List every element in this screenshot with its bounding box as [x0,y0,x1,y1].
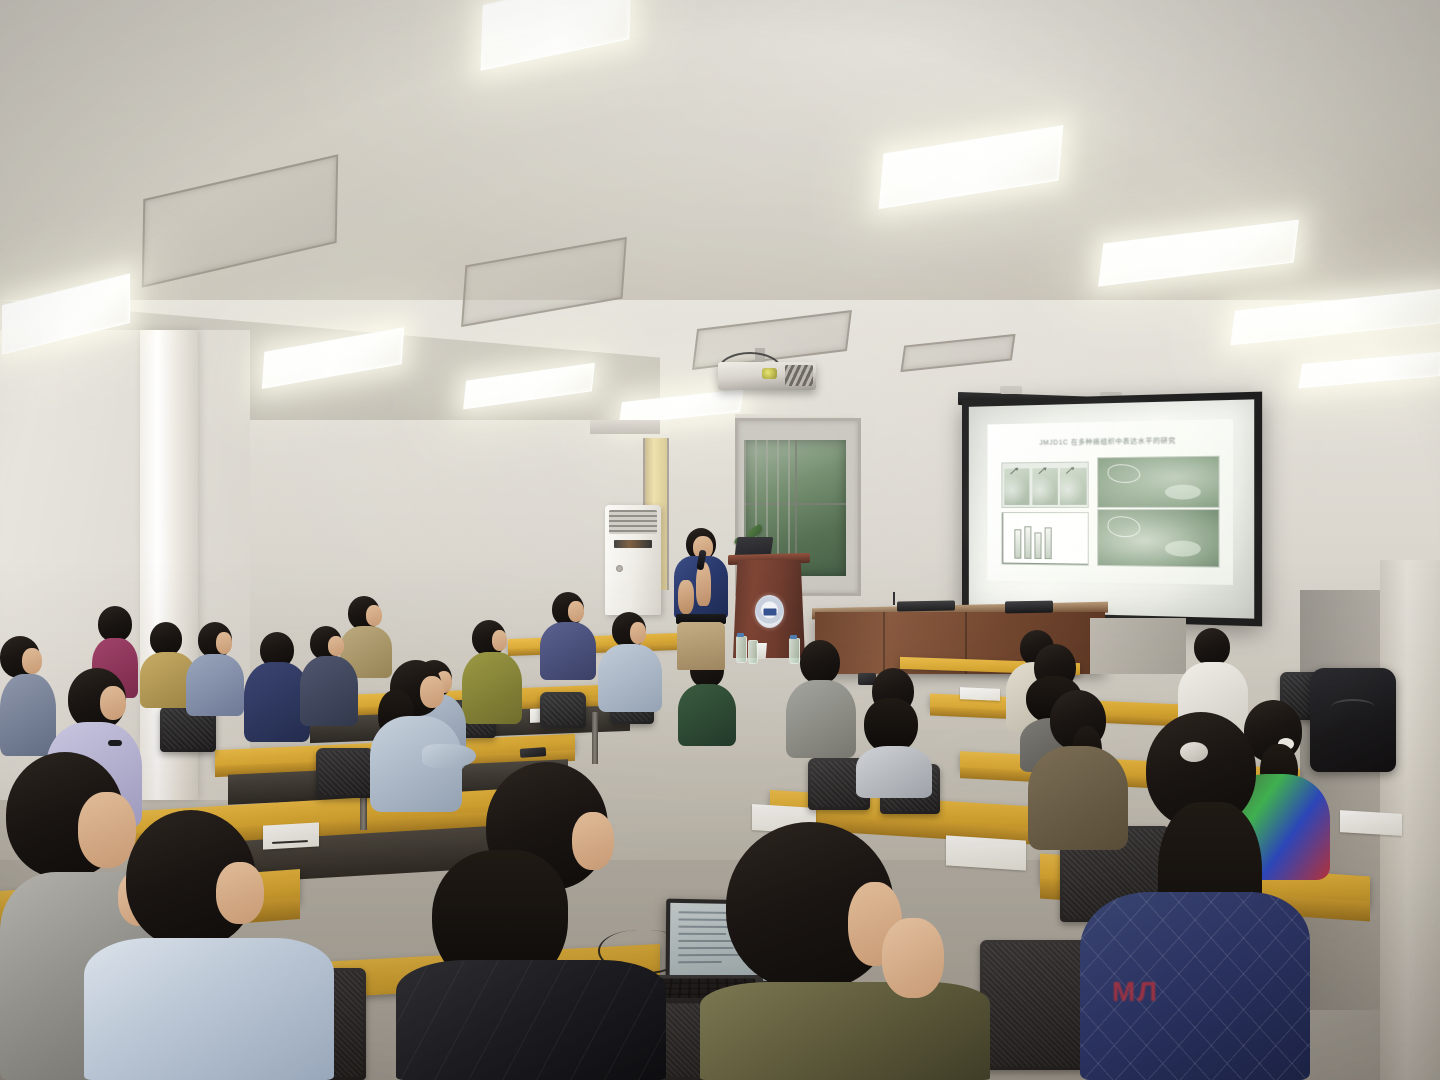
slide-panel-top-left [1001,461,1089,508]
ceiling-light-on [2,273,130,354]
histology-image [1098,510,1219,566]
attendee-front-quilted: MЛ [1080,712,1310,1080]
shirt [84,938,334,1080]
black-jacket [396,960,666,1080]
ceiling-light-on [1098,220,1299,287]
micrograph-tile [1032,468,1058,505]
torso [540,622,596,680]
microphone-stem [893,592,895,605]
head [1194,628,1230,666]
torso [598,644,662,712]
university-crest-icon [755,595,784,628]
ac-display [614,540,652,548]
attendee-mid-olive-sweater [462,620,522,724]
open-notebook[interactable] [1340,810,1402,836]
wristwatch [108,740,122,746]
chair[interactable] [316,748,374,798]
face [630,622,646,644]
ceiling-light-on [262,327,404,389]
table-skirt-seam [883,612,885,674]
paper-sheet[interactable] [960,687,1000,701]
conference-monitor[interactable] [1005,601,1053,614]
chart-bar [1034,532,1041,559]
chair-mesh [543,695,583,725]
ceiling-light-on [1230,289,1440,346]
projector [718,362,816,390]
micrograph-tile [1004,468,1029,505]
head [800,640,840,684]
ceiling-light-off [900,334,1015,372]
histology-image [1098,457,1219,507]
attendee-front-blue-shirt [84,810,334,1080]
face [328,636,344,656]
ceiling-light-on [879,125,1064,209]
projection-screen: JMJD1C 在多种癌组织中表达水平的研究 [962,392,1262,627]
slide-panel-bottom-right [1097,509,1220,567]
chart-bar [1044,528,1051,559]
ceiling-light-on [481,0,632,71]
ceiling-light-on [463,363,595,410]
slide-panel-bar-chart [1001,512,1089,565]
jacket-lettering: MЛ [1112,976,1200,1032]
presenter-trousers [677,622,725,670]
ceiling-light-on [1298,352,1440,389]
desk-leg [592,712,598,764]
hand [882,918,944,998]
attendee-front-olive [700,822,990,1080]
chart-y-axis [1002,513,1003,563]
conference-microphone[interactable] [897,600,955,611]
torso [186,654,244,716]
torso [786,680,856,758]
presenter-arm [678,580,694,614]
hair-clip [1180,742,1208,762]
presenter [672,528,734,668]
face [492,630,507,651]
torso [678,684,736,746]
attendee-mid-longhair [856,668,932,798]
water-bottle[interactable] [748,640,758,664]
projector-vent-icon [785,365,813,386]
face [100,686,126,720]
bottle-cap-icon [737,633,744,637]
air-conditioner[interactable] [605,505,661,615]
face [420,676,444,708]
head [98,606,132,642]
bottle-cap-icon [790,635,797,639]
torso [700,982,990,1080]
ceiling-light-off [461,237,627,327]
lecture-hall-photograph: JMJD1C 在多种癌组织中表达水平的研究 [0,0,1440,1080]
chart-bars [1014,521,1051,559]
face [366,605,382,626]
attendee-mid-grey-tshirt [786,640,856,758]
chart-bar [1024,527,1031,559]
chart-bar [1014,530,1021,559]
roller-blind-left [590,420,660,434]
face [22,648,42,674]
presentation-slide: JMJD1C 在多种癌组织中表达水平的研究 [988,420,1233,586]
smartphone[interactable] [520,747,547,758]
screen-mount-bracket [1000,386,1022,394]
screen-surface: JMJD1C 在多种癌组织中表达水平的研究 [969,399,1254,618]
ceiling-light-off [142,154,338,288]
micrograph-tile [1060,467,1086,505]
head [150,622,182,656]
chart-x-axis [1002,562,1088,564]
face [572,812,614,870]
face [568,601,584,622]
ac-power-button[interactable] [616,565,623,572]
quilted-jacket: MЛ [1080,892,1310,1080]
torso [462,652,522,724]
face [216,862,264,924]
side-cabinet [1090,618,1186,674]
attendee-back-grey-coat [300,626,358,726]
face [216,632,232,654]
attendee-back-navy-2 [540,592,596,680]
slide-title: JMJD1C 在多种癌组织中表达水平的研究 [1008,433,1209,447]
slide-panel-top-right [1097,456,1220,508]
attendee-front-black-jacket [396,762,666,1080]
chair[interactable] [540,692,586,728]
ac-vent-icon [609,510,657,534]
chair-mesh [319,751,371,795]
water-bottle[interactable] [736,636,747,663]
torso [856,746,932,798]
attendee-mid-grey-blue [598,612,662,712]
projector-lens-icon [762,368,777,379]
torso [300,656,358,726]
attendee-back-purple [186,622,244,716]
